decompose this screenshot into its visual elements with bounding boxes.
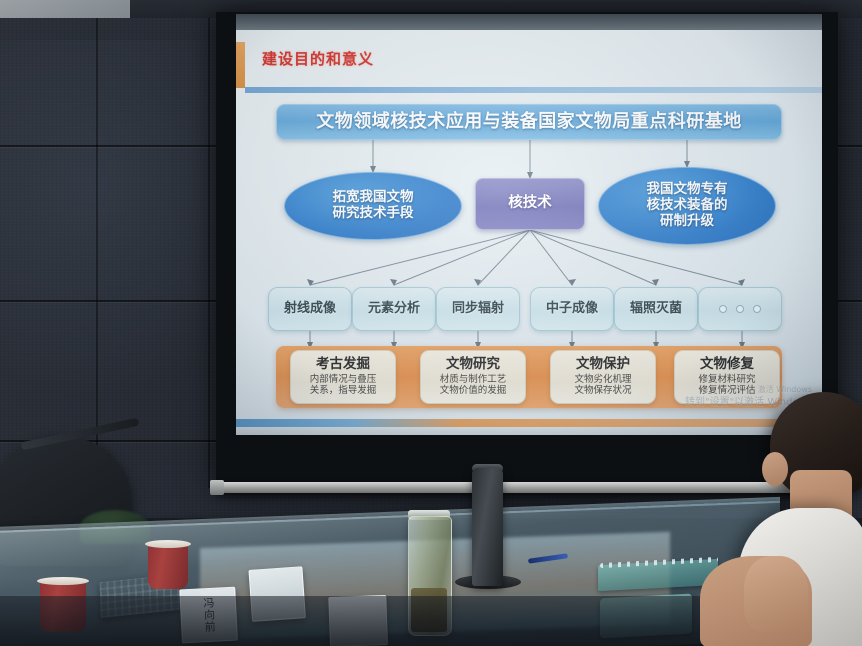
tech-node-ray-imaging: 射线成像 [268, 287, 352, 331]
tech-node-more [698, 287, 782, 331]
title-divider-rule [245, 87, 822, 93]
slide-section-title: 建设目的和意义 [262, 48, 374, 69]
slide-bottom-bar [236, 419, 822, 427]
base-title-node: 文物领域核技术应用与装备国家文物局重点科研基地 [276, 104, 782, 140]
roller-cap-left [210, 480, 224, 495]
app-line1-restoration: 修复材料研究 [698, 374, 755, 386]
app-line2-research: 文物价值的发掘 [440, 385, 507, 397]
presentation-slide: 建设目的和意义 [236, 30, 822, 435]
goal-right-line3: 研制升级 [647, 214, 728, 230]
app-title-research: 文物研究 [446, 357, 500, 373]
app-line1-protection: 文物劣化机理 [574, 374, 631, 386]
wall-panel-joint [96, 18, 98, 488]
app-line1-research: 材质与制作工艺 [440, 374, 507, 386]
screen-roller-bar [216, 482, 838, 493]
paper-cup-back [148, 545, 188, 589]
app-title-archaeology: 考古发掘 [316, 357, 370, 373]
app-line2-archaeology: 关系，指导发掘 [310, 385, 377, 397]
application-node-research: 文物研究 材质与制作工艺 文物价值的发掘 [420, 350, 526, 404]
nuclear-tech-node: 核技术 [475, 178, 585, 230]
attendee-ear [762, 452, 788, 486]
tech-node-synchrotron: 同步辐射 [436, 287, 520, 331]
attendee-hand [744, 556, 808, 632]
conference-microphone [472, 468, 503, 586]
watermark-line1: 激活 Windows [685, 385, 812, 396]
goal-right-line1: 我国文物专有 [647, 182, 728, 198]
app-line1-archaeology: 内部情况与叠压 [310, 374, 377, 386]
tech-node-element-analysis: 元素分析 [352, 287, 436, 331]
goal-node-left: 拓宽我国文物 研究技术手段 [284, 172, 462, 240]
goal-left-line2: 研究技术手段 [333, 206, 414, 222]
tech-node-neutron-imaging: 中子成像 [530, 287, 614, 331]
app-title-restoration: 文物修复 [700, 357, 754, 373]
photo-scene: 建设目的和意义 [0, 0, 862, 646]
application-node-protection: 文物保护 文物劣化机理 文物保存状况 [550, 350, 656, 404]
goal-node-right: 我国文物专有 核技术装备的 研制升级 [598, 167, 776, 245]
tech-node-irradiation: 辐照灭菌 [614, 287, 698, 331]
wall-panel-joint [208, 18, 210, 488]
ellipsis-dots-icon [719, 305, 761, 313]
application-node-archaeology: 考古发掘 内部情况与叠压 关系，指导发掘 [290, 350, 396, 404]
app-line2-protection: 文物保存状况 [574, 385, 631, 397]
goal-left-line1: 拓宽我国文物 [333, 190, 414, 206]
title-accent-bar [236, 42, 245, 88]
slide-bottom-pad [236, 427, 822, 435]
app-title-protection: 文物保护 [576, 357, 630, 373]
goal-right-line2: 核技术装备的 [647, 198, 728, 214]
